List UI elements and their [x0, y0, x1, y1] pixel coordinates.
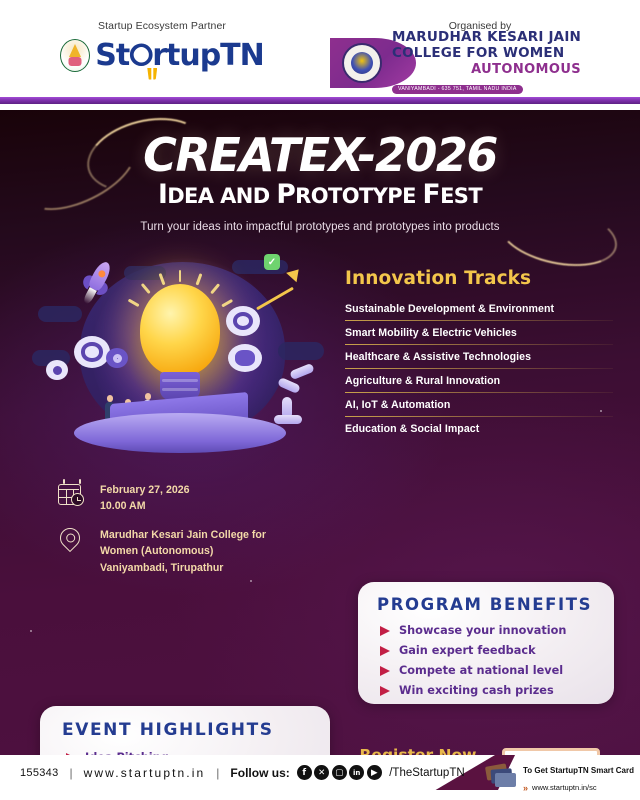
idea-lightbulb-illustration: ✓ [32, 250, 328, 465]
purple-divider-band [0, 97, 640, 104]
card-stack-icon [486, 765, 516, 787]
poster-subtitle: IDEA AND PROTOTYPE FEST [0, 182, 640, 209]
chat-bubble-icon [228, 344, 262, 372]
gear-bubble-icon [226, 306, 260, 336]
title-block: CREATEX-2026 IDEA AND PROTOTYPE FEST Tur… [0, 132, 640, 233]
check-badge-icon: ✓ [264, 254, 280, 270]
program-benefits-title: PROGRAM BENEFITS [377, 595, 614, 614]
x-twitter-icon[interactable]: ✕ [314, 765, 329, 780]
youtube-icon[interactable]: ▶ [367, 765, 382, 780]
event-date-block: February 27, 2026 10.00 AM [58, 482, 190, 515]
footer-separator: | [216, 766, 219, 780]
arrow-bullet-icon [380, 626, 390, 636]
arrow-bullet-icon [380, 646, 390, 656]
benefit-item: Gain expert feedback [380, 644, 614, 657]
organiser-block: Organised by MARUDHAR KESARI JAIN COLLEG… [330, 20, 630, 88]
poster-tagline: Turn your ideas into impactful prototype… [0, 221, 640, 233]
event-venue-text: Marudhar Kesari Jain College for Women (… [100, 527, 266, 576]
benefit-label: Compete at national level [399, 664, 563, 677]
startuptn-wordmark: St⭘rtupTN [95, 41, 264, 71]
track-item: AI, IoT & Automation [345, 399, 613, 417]
college-line-3: AUTONOMOUS [392, 62, 581, 77]
track-item: Healthcare & Assistive Technologies [345, 351, 613, 369]
gear-bubble-icon [106, 348, 128, 368]
program-benefits-card: PROGRAM BENEFITS Showcase your innovatio… [358, 582, 614, 704]
college-line-1: MARUDHAR KESARI JAIN [392, 30, 581, 46]
facebook-icon[interactable]: f [297, 765, 312, 780]
footer-follow-label: Follow us: [230, 766, 289, 780]
top-header: Startup Ecosystem Partner St⭘rtupTN Orga… [0, 0, 640, 97]
arrow-bullet-icon [380, 666, 390, 676]
location-pin-icon [58, 527, 86, 557]
startuptn-logo: St⭘rtupTN [32, 39, 292, 72]
startup-partner-block: Startup Ecosystem Partner St⭘rtupTN [32, 20, 292, 72]
smart-card-promo[interactable]: To Get StartupTN Smart Card » www.startu… [486, 757, 634, 795]
register-now-label: Register Now [347, 746, 489, 755]
benefit-label: Win exciting cash prizes [399, 684, 554, 697]
venue-line2: Women (Autonomous) [100, 543, 266, 559]
startuptn-o-glyph: ⭘ [129, 41, 152, 71]
footer-bar: 155343 | www.startuptn.in | Follow us: f… [0, 755, 640, 800]
smart-card-url-row: » www.startuptn.in/sc [523, 782, 634, 795]
benefit-item: Showcase your innovation [380, 624, 614, 637]
benefit-label: Gain expert feedback [399, 644, 536, 657]
event-venue-block: Marudhar Kesari Jain College for Women (… [58, 527, 266, 576]
track-item: Smart Mobility & Electric Vehicles [345, 327, 613, 345]
smart-card-line2[interactable]: www.startuptn.in/sc [532, 783, 597, 794]
venue-line3: Vaniyambadi, Tirupathur [100, 560, 266, 576]
star-decor [250, 580, 252, 582]
benefit-item: Compete at national level [380, 664, 614, 677]
college-line-4: VANIYAMBADI - 635 751, TAMIL NADU INDIA [392, 85, 523, 94]
program-benefits-list: Showcase your innovation Gain expert fee… [380, 624, 614, 697]
startuptn-word-part1: St [95, 38, 129, 73]
event-date-text: February 27, 2026 10.00 AM [100, 482, 190, 515]
lightbulb-icon [140, 284, 220, 376]
tn-emblem-icon [60, 39, 90, 72]
cloud-decor [278, 342, 324, 360]
poster-body: CREATEX-2026 IDEA AND PROTOTYPE FEST Tur… [0, 110, 640, 755]
event-highlights-card: EVENT HIGHLIGHTS Idea Pitching Prototype… [40, 706, 330, 755]
benefit-label: Showcase your innovation [399, 624, 566, 637]
cloud-decor [38, 306, 82, 322]
innovation-tracks-section: Innovation Tracks Sustainable Developmen… [345, 268, 613, 446]
registration-block: Register Now Application Deadline 15.02.… [338, 746, 498, 755]
footer-separator: | [70, 766, 73, 780]
poster-root: Startup Ecosystem Partner St⭘rtupTN Orga… [0, 0, 640, 800]
track-item: Sustainable Development & Environment [345, 303, 613, 321]
calendar-clock-icon [58, 482, 86, 512]
chevron-right-icon: » [523, 782, 527, 795]
benefit-item: Win exciting cash prizes [380, 684, 614, 697]
pedestal-base [74, 413, 286, 453]
college-logo: MARUDHAR KESARI JAIN COLLEGE FOR WOMEN A… [330, 38, 630, 88]
innovation-tracks-title: Innovation Tracks [345, 268, 613, 289]
registration-qr-code[interactable] [502, 748, 600, 755]
track-item: Agriculture & Rural Innovation [345, 375, 613, 393]
footer-helpline-number: 155343 [20, 767, 59, 779]
gear-bubble-icon [46, 360, 68, 380]
gear-bubble-icon [74, 336, 110, 368]
partner-label: Startup Ecosystem Partner [32, 20, 292, 32]
growth-arrow-icon [254, 268, 306, 304]
smart-card-text: To Get StartupTN Smart Card » www.startu… [523, 757, 634, 795]
college-seal-icon [342, 43, 382, 83]
footer-social-handle: /TheStartupTN [389, 767, 464, 779]
linkedin-icon[interactable]: in [349, 765, 364, 780]
smart-card-line1: To Get StartupTN Smart Card [523, 766, 634, 775]
track-item: Education & Social Impact [345, 423, 613, 440]
arrow-bullet-icon [380, 686, 390, 696]
footer-website[interactable]: www.startuptn.in [84, 766, 206, 780]
bulb-accent-icon [147, 68, 157, 80]
star-decor [30, 630, 32, 632]
startuptn-word-part2: rtupTN [152, 38, 264, 73]
instagram-icon[interactable]: ▢ [332, 765, 347, 780]
bulb-ray [179, 270, 182, 282]
event-highlights-title: EVENT HIGHLIGHTS [62, 720, 330, 740]
event-date-line2: 10.00 AM [100, 498, 190, 514]
venue-line1: Marudhar Kesari Jain College for [100, 527, 266, 543]
poster-title: CREATEX-2026 [0, 132, 640, 178]
college-line-2: COLLEGE FOR WOMEN [392, 46, 581, 62]
event-date-line1: February 27, 2026 [100, 482, 190, 498]
college-name-block: MARUDHAR KESARI JAIN COLLEGE FOR WOMEN A… [392, 30, 581, 96]
robot-arm-icon [272, 367, 320, 425]
